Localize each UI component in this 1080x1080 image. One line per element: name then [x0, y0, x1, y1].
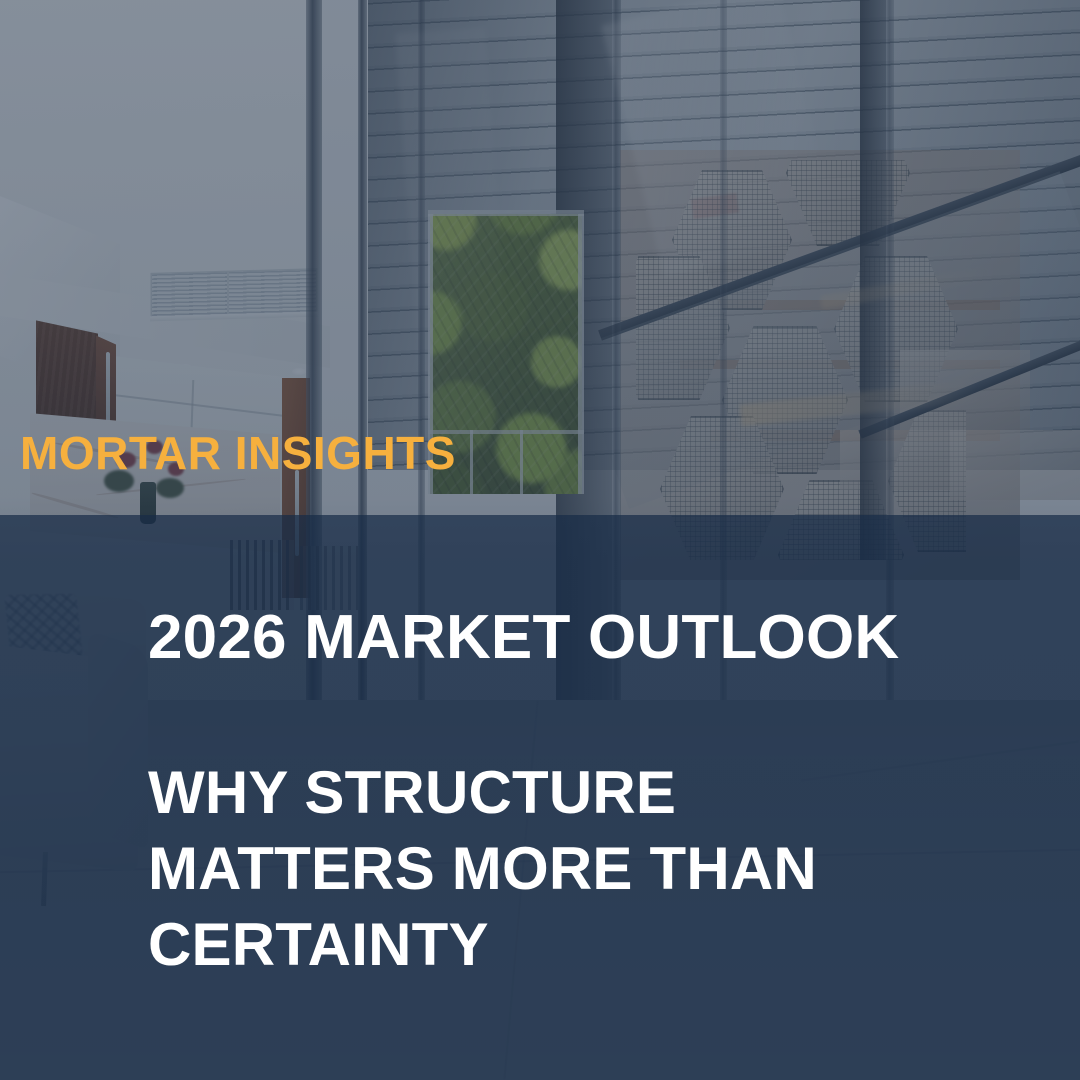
- eyebrow-label: MORTAR INSIGHTS: [20, 430, 456, 476]
- page-title: 2026 MARKET OUTLOOK: [148, 605, 899, 670]
- page-subtitle: WHY STRUCTURE MATTERS MORE THAN CERTAINT…: [148, 755, 908, 984]
- text-layer: MORTAR INSIGHTS 2026 MARKET OUTLOOK WHY …: [0, 0, 1080, 1080]
- poster-canvas: MORTAR INSIGHTS 2026 MARKET OUTLOOK WHY …: [0, 0, 1080, 1080]
